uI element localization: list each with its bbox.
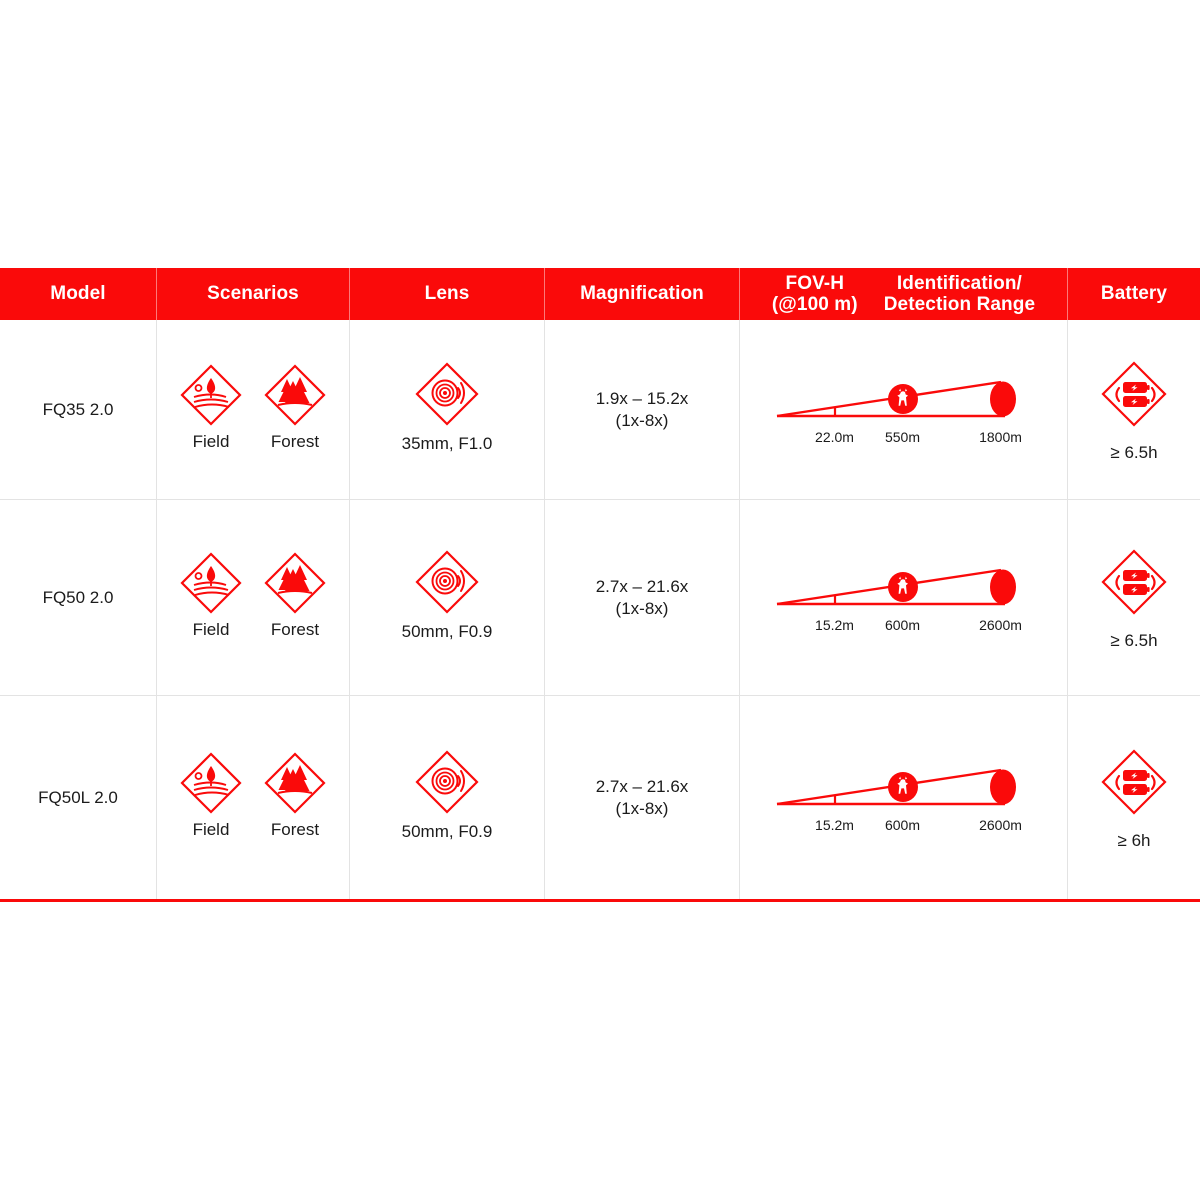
fov-near-label: 15.2m — [815, 617, 854, 633]
column-header-fov-h: FOV-H (@100 m) — [772, 273, 858, 316]
cell-magnification: 2.7x – 21.6x (1x-8x) — [545, 500, 740, 695]
magnification-range: 2.7x – 21.6x — [596, 576, 689, 597]
cell-magnification: 2.7x – 21.6x (1x-8x) — [545, 696, 740, 899]
scenario-label: Forest — [271, 620, 319, 640]
cell-lens: 35mm, F1.0 — [350, 320, 545, 499]
column-header-detection-range-line1: Identification/ — [884, 273, 1035, 294]
fov-mid-label: 550m — [885, 429, 920, 445]
cell-battery: ≥ 6h — [1068, 696, 1200, 899]
lens-label: 50mm, F0.9 — [402, 822, 493, 842]
magnification-digital: (1x-8x) — [596, 410, 689, 431]
cell-fov-range: 22.0m 550m 1800m — [740, 320, 1068, 499]
fov-far-label: 1800m — [979, 429, 1022, 445]
scenario-field: Field — [172, 360, 250, 452]
cell-scenarios: Field Forest — [157, 320, 350, 499]
cell-fov-range: 15.2m 600m 2600m — [740, 500, 1068, 695]
battery-label: ≥ 6h — [1118, 831, 1151, 851]
scenario-forest: Forest — [256, 748, 334, 840]
magnification-range: 2.7x – 21.6x — [596, 776, 689, 797]
field-icon — [176, 548, 246, 618]
scenario-field: Field — [172, 548, 250, 640]
dual-battery-swap-icon — [1097, 545, 1171, 619]
column-header-detection-range-line2: Detection Range — [884, 294, 1035, 315]
forest-icon — [260, 748, 330, 818]
column-header-magnification: Magnification — [545, 268, 740, 320]
fov-far-label: 2600m — [979, 817, 1022, 833]
column-header-detection-range: Identification/ Detection Range — [884, 273, 1035, 316]
battery-label: ≥ 6.5h — [1110, 443, 1157, 463]
scenario-label: Field — [193, 820, 230, 840]
table-row: FQ50L 2.0 Field — [0, 696, 1200, 899]
lens-label: 50mm, F0.9 — [402, 622, 493, 642]
fov-distance-labels: 15.2m 600m 2600m — [773, 617, 1035, 637]
lens-aperture-icon — [411, 358, 483, 430]
column-header-fov-range: FOV-H (@100 m) Identification/ Detection… — [740, 268, 1068, 320]
scenario-label: Forest — [271, 432, 319, 452]
lens-label: 35mm, F1.0 — [402, 434, 493, 454]
magnification-digital: (1x-8x) — [596, 598, 689, 619]
column-header-fov-h-line2: (@100 m) — [772, 294, 858, 315]
column-header-model: Model — [0, 268, 157, 320]
dual-battery-swap-icon — [1097, 357, 1171, 431]
fov-cone-diagram — [773, 554, 1035, 616]
scenario-forest: Forest — [256, 548, 334, 640]
fov-distance-labels: 15.2m 600m 2600m — [773, 817, 1035, 837]
forest-icon — [260, 360, 330, 430]
field-icon — [176, 360, 246, 430]
column-header-lens: Lens — [350, 268, 545, 320]
cell-model: FQ50 2.0 — [0, 500, 157, 695]
cell-model: FQ50L 2.0 — [0, 696, 157, 899]
table-header-row: Model Scenarios Lens Magnification FOV-H… — [0, 268, 1200, 320]
cell-fov-range: 15.2m 600m 2600m — [740, 696, 1068, 899]
field-icon — [176, 748, 246, 818]
column-header-battery: Battery — [1068, 268, 1200, 320]
cell-battery: ≥ 6.5h — [1068, 500, 1200, 695]
specification-comparison-table: Model Scenarios Lens Magnification FOV-H… — [0, 268, 1200, 902]
fov-cone-diagram — [773, 366, 1035, 428]
dual-battery-swap-icon — [1097, 745, 1171, 819]
fov-near-label: 22.0m — [815, 429, 854, 445]
cell-model: FQ35 2.0 — [0, 320, 157, 499]
table-row: FQ50 2.0 Field — [0, 500, 1200, 696]
scenario-forest: Forest — [256, 360, 334, 452]
scenario-label: Forest — [271, 820, 319, 840]
fov-mid-label: 600m — [885, 817, 920, 833]
battery-label: ≥ 6.5h — [1110, 631, 1157, 651]
scenario-field: Field — [172, 748, 250, 840]
column-header-fov-h-line1: FOV-H — [772, 273, 858, 294]
lens-aperture-icon — [411, 746, 483, 818]
cell-battery: ≥ 6.5h — [1068, 320, 1200, 499]
cell-scenarios: Field Forest — [157, 500, 350, 695]
forest-icon — [260, 548, 330, 618]
fov-far-label: 2600m — [979, 617, 1022, 633]
scenario-label: Field — [193, 620, 230, 640]
column-header-scenarios: Scenarios — [157, 268, 350, 320]
magnification-range: 1.9x – 15.2x — [596, 388, 689, 409]
cell-scenarios: Field Forest — [157, 696, 350, 899]
cell-magnification: 1.9x – 15.2x (1x-8x) — [545, 320, 740, 499]
scenario-label: Field — [193, 432, 230, 452]
magnification-digital: (1x-8x) — [596, 798, 689, 819]
lens-aperture-icon — [411, 546, 483, 618]
cell-lens: 50mm, F0.9 — [350, 696, 545, 899]
fov-near-label: 15.2m — [815, 817, 854, 833]
fov-mid-label: 600m — [885, 617, 920, 633]
fov-distance-labels: 22.0m 550m 1800m — [773, 429, 1035, 449]
fov-cone-diagram — [773, 754, 1035, 816]
table-row: FQ35 2.0 Field — [0, 320, 1200, 500]
cell-lens: 50mm, F0.9 — [350, 500, 545, 695]
